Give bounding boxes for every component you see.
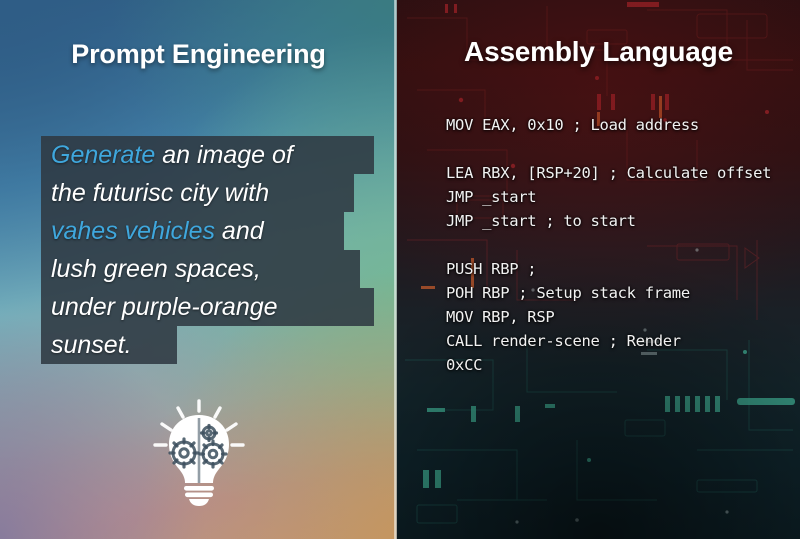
code-line-8: POH RBP ; Setup stack frame: [446, 281, 771, 305]
code-line-3: LEA RBX, [RSP+20] ; Calculate offset: [446, 161, 771, 185]
prompt-line-3: vahes vehicles and: [41, 212, 344, 250]
code-line-1: MOV EAX, 0x10 ; Load address: [446, 113, 771, 137]
prompt-line-2: the futurisc city with: [41, 174, 354, 212]
prompt-line-1: Generate an image of: [41, 136, 374, 174]
code-line-9: MOV RBP, RSP: [446, 305, 771, 329]
prompt-line-5: under purple-orange: [41, 288, 374, 326]
code-line-11: 0xCC: [446, 353, 771, 377]
code-line-4: JMP _start: [446, 185, 771, 209]
code-line-7: PUSH RBP ;: [446, 257, 771, 281]
code-line-2-blank: [446, 137, 771, 161]
brain-lightbulb-icon: [147, 398, 251, 506]
prompt-text-block: Generate an image of the futurisc city w…: [41, 136, 374, 364]
prompt-line-4: lush green spaces,: [41, 250, 360, 288]
prompt-line-6: sunset.: [41, 326, 177, 364]
right-panel-title: Assembly Language: [397, 36, 800, 68]
prompt-line-3-rest: and: [215, 217, 264, 245]
comparison-graphic: Prompt Engineering Generate an image of …: [0, 0, 800, 539]
prompt-accent-phrase-vahes-vehicles: vahes vehicles: [51, 217, 215, 245]
prompt-accent-word-generate: Generate: [51, 141, 155, 169]
code-line-10: CALL render-scene ; Render: [446, 329, 771, 353]
prompt-line-1-rest: an image of: [155, 141, 293, 169]
left-panel-prompt-engineering: Prompt Engineering Generate an image of …: [0, 0, 397, 539]
assembly-code-block: MOV EAX, 0x10 ; Load address LEA RBX, [R…: [446, 113, 771, 377]
code-line-6-blank: [446, 233, 771, 257]
left-panel-title: Prompt Engineering: [0, 39, 397, 70]
code-line-5: JMP _start ; to start: [446, 209, 771, 233]
right-panel-assembly-language: Assembly Language MOV EAX, 0x10 ; Load a…: [397, 0, 800, 539]
